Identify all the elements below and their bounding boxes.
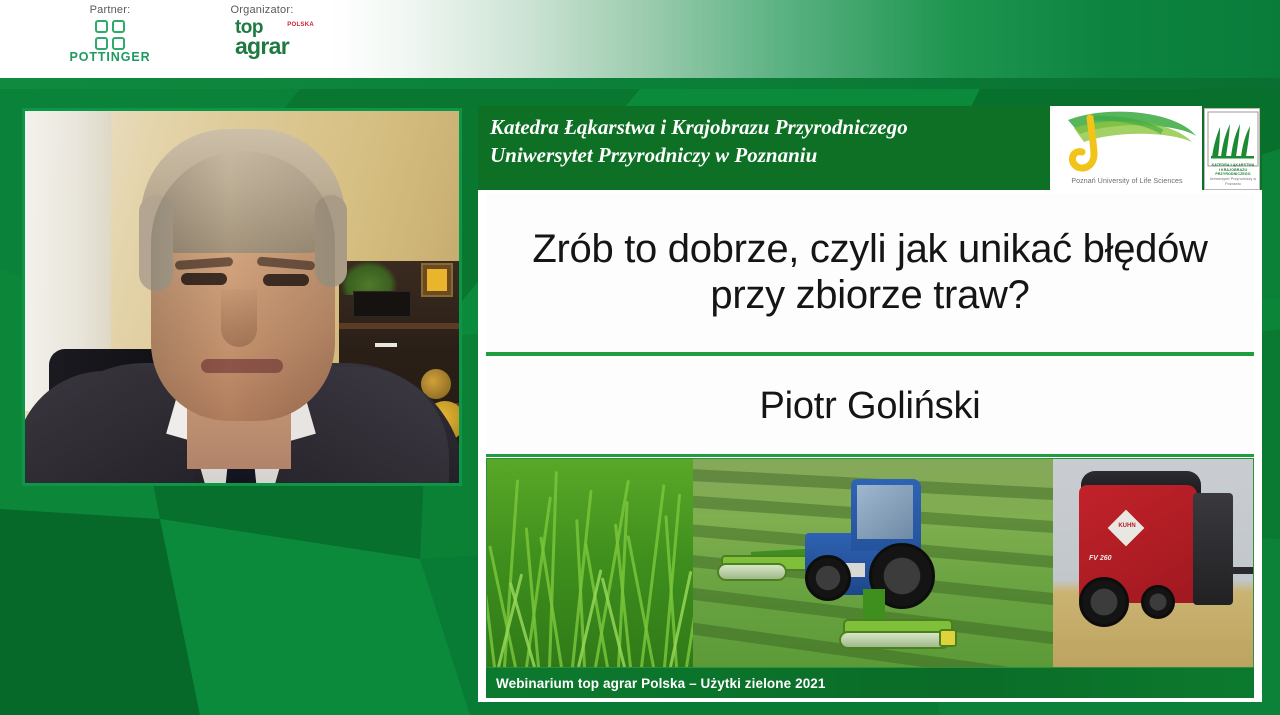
presentation-slide[interactable]: Katedra Łąkarstwa i Krajobrazu Przyrodni… <box>478 106 1262 702</box>
slide-title-line2: przy zbiorze traw? <box>532 273 1207 319</box>
webcam-plant <box>341 261 397 295</box>
pottinger-quad-logo-icon <box>95 20 125 50</box>
pottinger-wordmark: POTTINGER <box>48 51 172 64</box>
faculty-logo: KATEDRA ŁĄKARSTWA I KRAJOBRAZU PRZYRODNI… <box>1204 108 1260 190</box>
poznan-university-logo-caption: Poznań University of Life Sciences <box>1056 178 1198 185</box>
slide-header-band: Katedra Łąkarstwa i Krajobrazu Przyrodni… <box>478 106 1262 190</box>
top-agrar-word-agrar: agrar <box>235 36 289 57</box>
title-divider <box>486 352 1254 356</box>
slide-header-line2: Uniwersytet Przyrodniczy w Poznaniu <box>490 142 1050 170</box>
tractor-glass <box>857 485 913 539</box>
kuhn-brand-text: KUHN <box>1115 523 1139 529</box>
webcam-shelf-item <box>375 343 397 347</box>
baler-hitch <box>1229 567 1253 574</box>
top-agrar-logo-icon: top agrar POLSKA <box>235 19 289 58</box>
author-divider <box>486 454 1254 457</box>
top-agrar-polska-badge: POLSKA <box>286 22 315 28</box>
grass-field-photo <box>487 459 693 667</box>
banner-base-strip <box>0 78 1280 89</box>
tractor-front-wheel <box>805 555 851 601</box>
slide-photo-strip: KUHN FV 260 <box>486 458 1254 668</box>
faculty-caption-line2: I KRAJOBRAZU PRZYRODNICZEGO <box>1207 168 1259 178</box>
grass-blades-icon <box>1205 109 1260 169</box>
partner-block: Partner: POTTINGER <box>48 4 172 64</box>
webcam-shelf-ledge <box>339 323 459 329</box>
sponsor-banner: Partner: POTTINGER Organizator: top agra… <box>0 0 1280 78</box>
webcam-video-tile[interactable] <box>22 108 462 486</box>
baler-model-text: FV 260 <box>1089 555 1112 562</box>
poznan-university-logo: Poznań University of Life Sciences <box>1050 106 1202 190</box>
round-baler-photo: KUHN FV 260 <box>1053 459 1253 667</box>
slide-header-affiliation: Katedra Łąkarstwa i Krajobrazu Przyrodni… <box>490 114 1050 169</box>
slide-title-panel: Zrób to dobrze, czyli jak unikać błędów … <box>486 194 1254 352</box>
faculty-caption-line1: KATEDRA ŁĄKARSTWA <box>1207 163 1259 168</box>
slide-author-panel: Piotr Goliński <box>486 358 1254 454</box>
slide-header-line1: Katedra Łąkarstwa i Krajobrazu Przyrodni… <box>490 114 1050 142</box>
slide-footer-text: Webinarium top agrar Polska – Użytki zie… <box>486 676 826 691</box>
webcam-picture-frame <box>421 263 453 297</box>
webcam-shelf-box <box>353 291 411 317</box>
slide-author-name: Piotr Goliński <box>759 385 980 428</box>
slide-title-line1: Zrób to dobrze, czyli jak unikać błędów <box>532 227 1207 273</box>
slide-footer-bar: Webinarium top agrar Polska – Użytki zie… <box>486 668 1254 698</box>
partner-label: Partner: <box>48 4 172 16</box>
slide-title: Zrób to dobrze, czyli jak unikać błędów … <box>526 227 1213 318</box>
organizer-label: Organizator: <box>200 4 324 16</box>
baler-wheel-right <box>1141 585 1175 619</box>
faculty-caption-line3: Uniwersytet Przyrodniczy w Poznaniu <box>1207 177 1259 187</box>
tractor-mowing-photo <box>693 459 1053 667</box>
faculty-logo-caption: KATEDRA ŁĄKARSTWA I KRAJOBRAZU PRZYRODNI… <box>1207 163 1259 187</box>
baler-wheel-left <box>1079 577 1129 627</box>
baler-rear-section <box>1193 493 1233 605</box>
speaker-face-shading <box>151 151 335 421</box>
organizer-block: Organizator: top agrar POLSKA <box>200 4 324 59</box>
